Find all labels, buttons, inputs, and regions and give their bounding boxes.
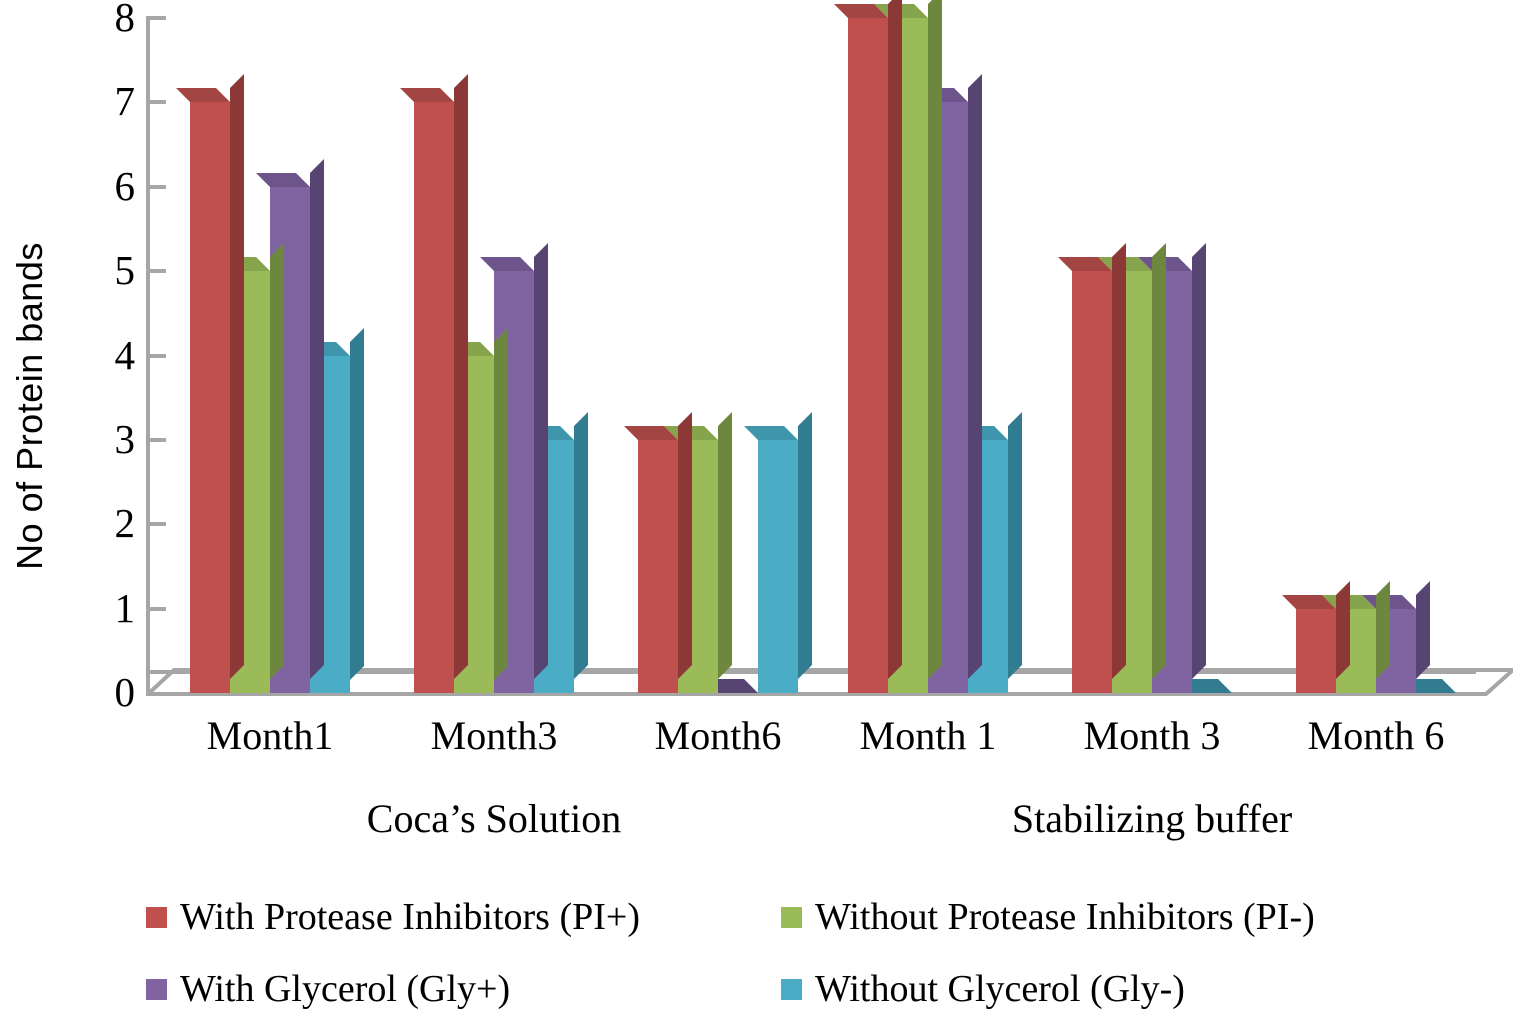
- bar-side: [798, 412, 812, 679]
- legend-item-1[interactable]: With Protease Inhibitors (PI+): [146, 898, 640, 936]
- x-group-label-2: Stabilizing buffer: [902, 795, 1402, 842]
- bar-side: [1152, 243, 1166, 679]
- bar-top: [176, 88, 230, 102]
- bar-side: [494, 328, 508, 680]
- bar-top: [480, 257, 534, 271]
- bar-side: [1416, 581, 1430, 679]
- y-tick-label-2: 2: [85, 503, 135, 544]
- legend-label: With Protease Inhibitors (PI+): [180, 898, 640, 936]
- bar-side: [928, 0, 942, 679]
- bar-month1-series1: [190, 102, 230, 693]
- bars-area: [146, 0, 1513, 700]
- legend-swatch-icon: [781, 907, 802, 928]
- legend-label: With Glycerol (Gly+): [180, 970, 510, 1008]
- y-axis-title: No of Protein bands: [9, 166, 51, 646]
- bar-side: [574, 412, 588, 679]
- bar-side: [230, 74, 244, 679]
- y-axis-tick-labels: 012345678: [50, 0, 135, 700]
- legend-swatch-icon: [781, 979, 802, 1000]
- bar-month3-series1: [414, 102, 454, 693]
- legend-swatch-icon: [146, 907, 167, 928]
- bar-month6-series1: [1296, 609, 1336, 693]
- bar-side: [718, 412, 732, 679]
- bar-side: [968, 74, 982, 679]
- y-tick-label-1: 1: [85, 588, 135, 629]
- y-tick-label-8: 8: [85, 0, 135, 38]
- bar-top: [256, 173, 310, 187]
- legend-swatch-icon: [146, 979, 167, 1000]
- y-tick-label-4: 4: [85, 335, 135, 376]
- y-tick-label-7: 7: [85, 81, 135, 122]
- bar-face: [414, 102, 454, 693]
- bar-face: [848, 18, 888, 693]
- bar-side: [678, 412, 692, 679]
- legend-item-2[interactable]: Without Protease Inhibitors (PI-): [781, 898, 1315, 936]
- bar-month6-series4: [758, 440, 798, 693]
- y-tick-label-0: 0: [85, 672, 135, 713]
- bar-face: [190, 102, 230, 693]
- bar-top: [744, 426, 798, 440]
- legend-label: Without Glycerol (Gly-): [815, 970, 1185, 1008]
- bar-face: [1296, 609, 1336, 693]
- bar-side: [1192, 243, 1206, 679]
- x-category-label-6: Month 6: [1216, 712, 1513, 759]
- bar-side: [1376, 581, 1390, 679]
- legend-item-3[interactable]: With Glycerol (Gly+): [146, 970, 510, 1008]
- y-tick-label-3: 3: [85, 419, 135, 460]
- bar-face: [758, 440, 798, 693]
- bar-month3-series1: [1072, 271, 1112, 693]
- x-group-label-1: Coca’s Solution: [244, 795, 744, 842]
- bar-side: [270, 243, 284, 679]
- bar-side: [454, 74, 468, 679]
- bar-side: [1008, 412, 1022, 679]
- bar-face: [1072, 271, 1112, 693]
- bar-side: [534, 243, 548, 679]
- chart-canvas: No of Protein bands 012345678 Month1Mont…: [0, 0, 1513, 1033]
- bar-top: [400, 88, 454, 102]
- bar-side: [310, 159, 324, 679]
- y-tick-label-5: 5: [85, 250, 135, 291]
- bar-month6-series1: [638, 440, 678, 693]
- bar-face: [638, 440, 678, 693]
- legend-item-4[interactable]: Without Glycerol (Gly-): [781, 970, 1185, 1008]
- bar-side: [350, 328, 364, 680]
- bar-side: [1336, 581, 1350, 679]
- legend-label: Without Protease Inhibitors (PI-): [815, 898, 1315, 936]
- y-tick-label-6: 6: [85, 166, 135, 207]
- bar-side: [1112, 243, 1126, 679]
- bar-month1-series1: [848, 18, 888, 693]
- bar-side: [888, 0, 902, 679]
